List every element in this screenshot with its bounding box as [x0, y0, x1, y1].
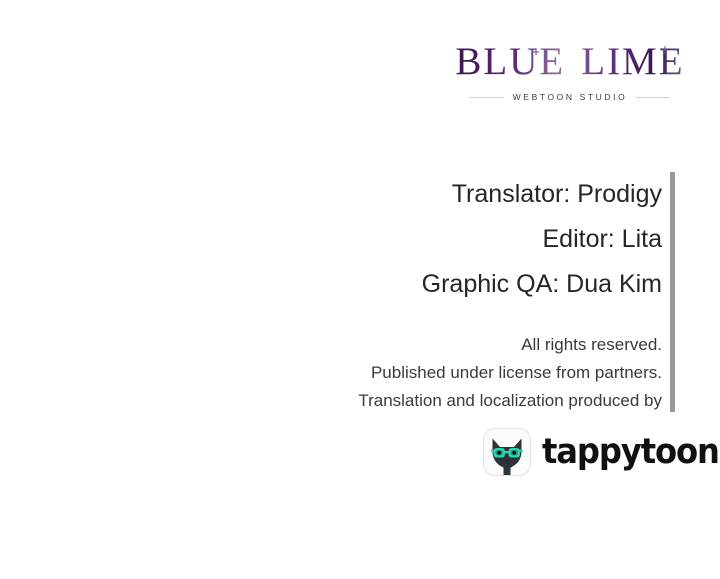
vertical-accent-bar — [670, 172, 675, 412]
legal-notice: All rights reserved. Published under lic… — [202, 331, 662, 415]
blue-lime-studio-logo: BLUELIME WEBTOON STUDIO — [455, 42, 685, 102]
divider-rule-right — [636, 97, 670, 98]
studio-wordmark: BLUELIME — [455, 42, 684, 81]
credit-line-translator: Translator: Prodigy — [242, 172, 662, 217]
tappytoon-cat-icon — [483, 428, 531, 476]
studio-name-part-2: LIME — [581, 42, 684, 81]
credit-line-graphic-qa: Graphic QA: Dua Kim — [242, 262, 662, 307]
credits-list: Translator: Prodigy Editor: Lita Graphic… — [242, 172, 662, 307]
legal-line-producer: Translation and localization produced by — [202, 387, 662, 415]
credits-page: BLUELIME WEBTOON STUDIO Translator: Prod… — [0, 0, 720, 579]
studio-subtitle-row: WEBTOON STUDIO — [455, 92, 685, 102]
tappytoon-brand-lockup: tappytoon — [483, 428, 720, 476]
studio-subtitle: WEBTOON STUDIO — [513, 92, 628, 102]
divider-rule-left — [470, 97, 504, 98]
credit-line-editor: Editor: Lita — [242, 217, 662, 262]
tappytoon-wordmark: tappytoon — [542, 435, 719, 470]
legal-line-rights: All rights reserved. — [202, 331, 662, 359]
studio-name-part-1: BLUE — [455, 42, 565, 81]
legal-line-license: Published under license from partners. — [202, 359, 662, 387]
